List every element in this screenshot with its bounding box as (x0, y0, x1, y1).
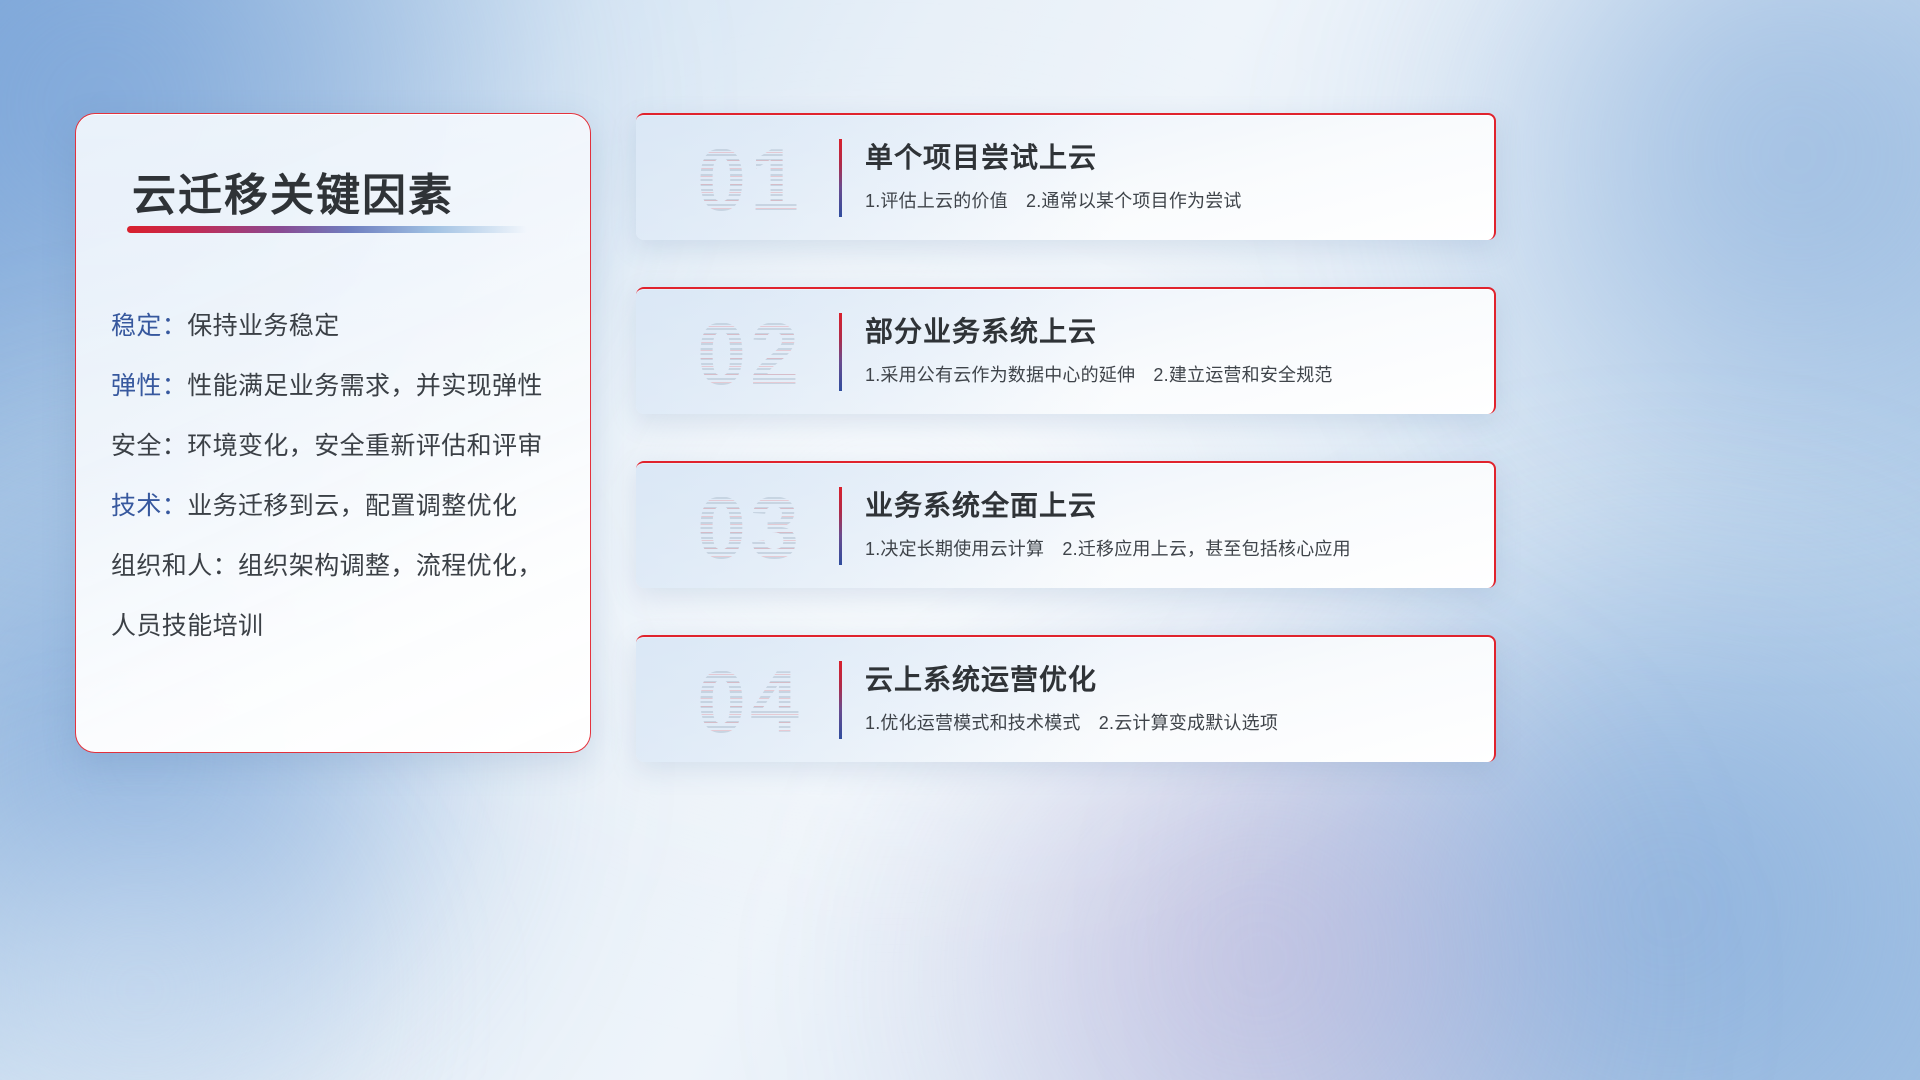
step-card-04[interactable]: 04 04 云上系统运营优化 1.优化运营模式和技术模式 2.云计算变成默认选项 (636, 635, 1496, 762)
factor-text: 性能满足业务需求，并实现弹性 (187, 372, 543, 400)
factor-label: 稳定： (111, 312, 187, 340)
factor-item-continuation: 人员技能培训 (111, 614, 566, 639)
factor-text: 组织架构调整，流程优化， (238, 552, 543, 580)
title-underline-gradient (127, 226, 527, 233)
factor-text: 人员技能培训 (111, 612, 263, 640)
step-number-watermark-tint: 04 (660, 651, 840, 753)
step-title: 部分业务系统上云 (865, 310, 1097, 350)
step-detail: 1.采用公有云作为数据中心的延伸 2.建立运营和安全规范 (865, 361, 1333, 387)
factor-text: 环境变化，安全重新评估和评审 (187, 432, 543, 460)
factor-label: 技术： (111, 492, 187, 520)
factor-item: 技术：业务迁移到云，配置调整优化 (111, 494, 566, 519)
step-divider-gradient (839, 661, 842, 739)
factor-label: 组织和人： (111, 552, 238, 580)
step-card-02[interactable]: 02 02 部分业务系统上云 1.采用公有云作为数据中心的延伸 2.建立运营和安… (636, 287, 1496, 414)
step-detail: 1.优化运营模式和技术模式 2.云计算变成默认选项 (865, 709, 1278, 735)
step-title: 云上系统运营优化 (865, 658, 1097, 698)
factor-item: 稳定：保持业务稳定 (111, 314, 566, 339)
factor-item: 安全：环境变化，安全重新评估和评审 (111, 434, 566, 459)
step-card-01[interactable]: 01 01 单个项目尝试上云 1.评估上云的价值 2.通常以某个项目作为尝试 (636, 113, 1496, 240)
factor-text: 保持业务稳定 (187, 312, 339, 340)
step-detail: 1.决定长期使用云计算 2.迁移应用上云，甚至包括核心应用 (865, 535, 1351, 561)
step-divider-gradient (839, 313, 842, 391)
step-divider-gradient (839, 139, 842, 217)
migration-steps-list: 01 01 单个项目尝试上云 1.评估上云的价值 2.通常以某个项目作为尝试 0… (636, 113, 1496, 762)
factor-item: 弹性：性能满足业务需求，并实现弹性 (111, 374, 566, 399)
page-title: 云迁移关键因素 (132, 159, 454, 223)
step-title: 业务系统全面上云 (865, 484, 1097, 524)
factor-list: 稳定：保持业务稳定 弹性：性能满足业务需求，并实现弹性 安全：环境变化，安全重新… (111, 314, 566, 639)
factor-text: 业务迁移到云，配置调整优化 (187, 492, 517, 520)
step-card-03[interactable]: 03 03 业务系统全面上云 1.决定长期使用云计算 2.迁移应用上云，甚至包括… (636, 461, 1496, 588)
step-number-watermark-tint: 03 (660, 477, 840, 579)
key-factors-card: 云迁移关键因素 稳定：保持业务稳定 弹性：性能满足业务需求，并实现弹性 安全：环… (75, 113, 591, 753)
step-detail: 1.评估上云的价值 2.通常以某个项目作为尝试 (865, 187, 1242, 213)
factor-label: 弹性： (111, 372, 187, 400)
factor-item: 组织和人：组织架构调整，流程优化， (111, 554, 566, 579)
step-number-watermark-tint: 01 (660, 129, 840, 231)
factor-label: 安全： (111, 432, 187, 460)
step-divider-gradient (839, 487, 842, 565)
step-title: 单个项目尝试上云 (865, 136, 1097, 176)
step-number-watermark-tint: 02 (660, 303, 840, 405)
